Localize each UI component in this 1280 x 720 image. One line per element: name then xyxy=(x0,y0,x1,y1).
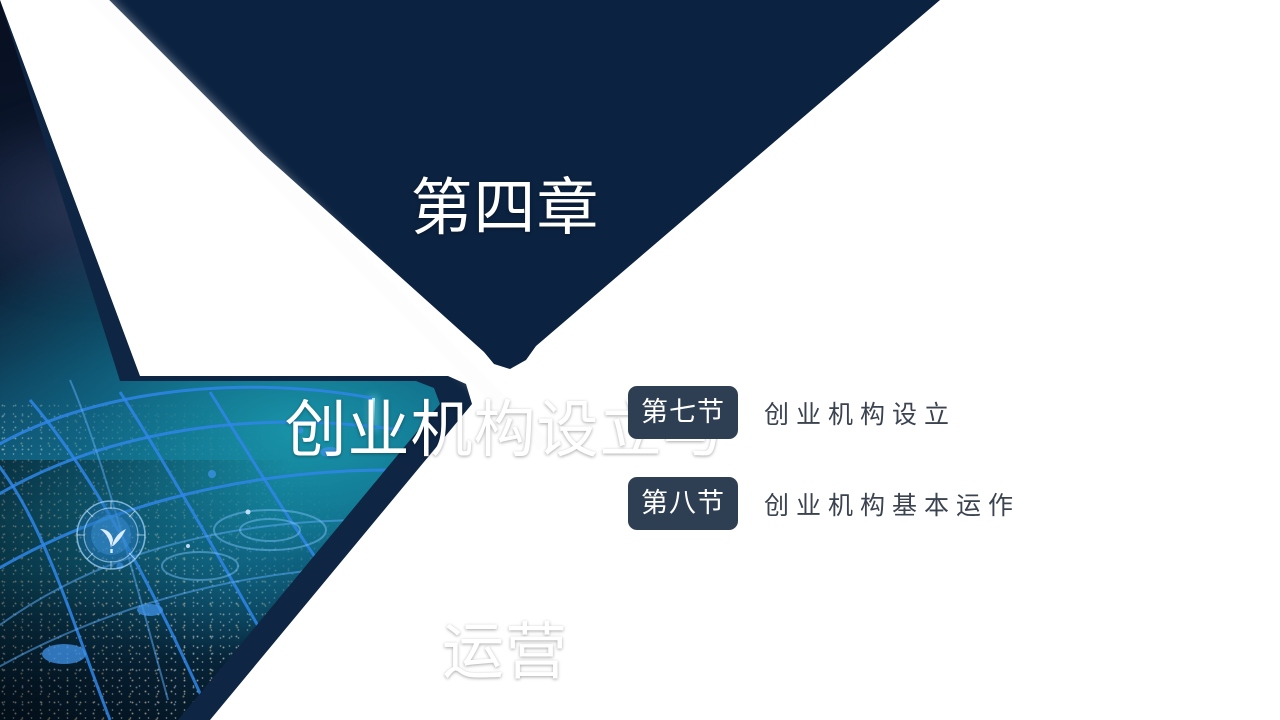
section-badge-7[interactable]: 第七节 xyxy=(628,386,738,439)
presentation-slide: 第四章 创业机构设立与 运营 第七节 创业机构设立 第八节 创业机构基本运作 xyxy=(0,0,1280,720)
chapter-title: 第四章 创业机构设立与 运营 xyxy=(250,24,760,720)
section-label-7: 创业机构设立 xyxy=(764,395,956,431)
plant-circle-emblem xyxy=(74,498,148,572)
section-list: 第七节 创业机构设立 第八节 创业机构基本运作 xyxy=(628,386,1188,568)
section-badge-8[interactable]: 第八节 xyxy=(628,477,738,530)
section-row-8[interactable]: 第八节 创业机构基本运作 xyxy=(628,477,1188,530)
chapter-title-line-3: 运营 xyxy=(250,616,760,690)
section-row-7[interactable]: 第七节 创业机构设立 xyxy=(628,386,1188,439)
chapter-title-line-1: 第四章 xyxy=(250,172,760,246)
section-label-8: 创业机构基本运作 xyxy=(764,486,1020,522)
